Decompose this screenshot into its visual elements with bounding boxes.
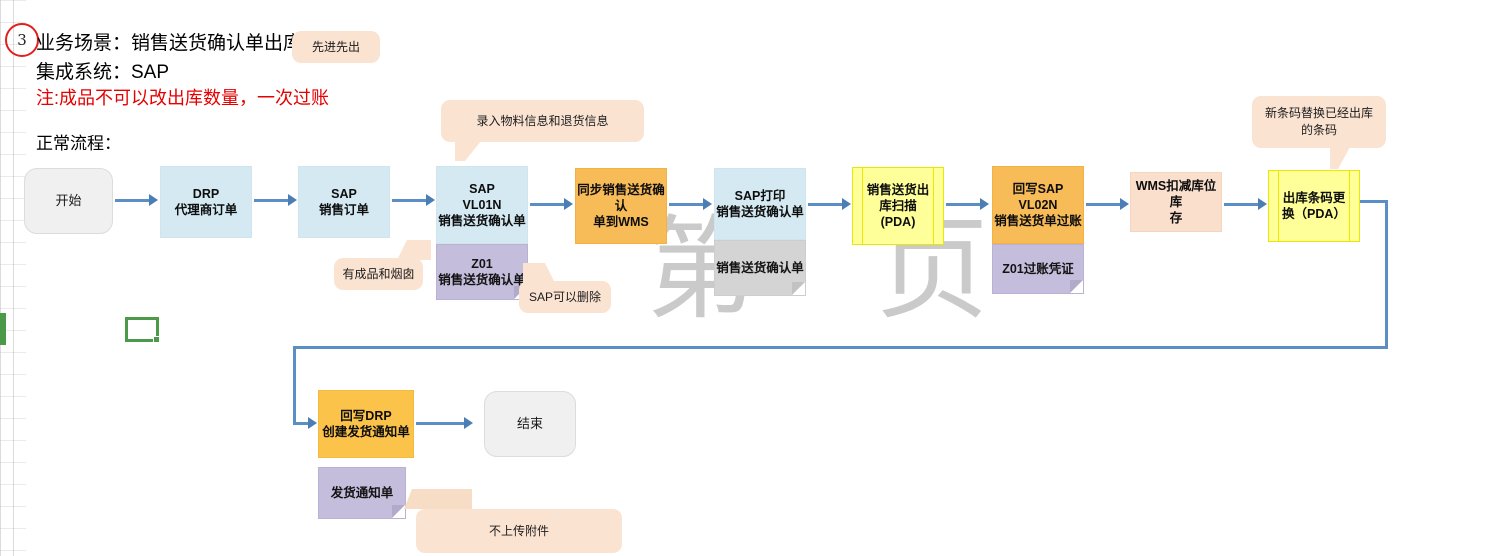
connector-sap-to-vl01n xyxy=(392,199,428,202)
node-sap-vl02n-line2: VL02N xyxy=(1019,197,1058,213)
callout-sap-delete: SAP可以删除 xyxy=(519,281,611,313)
callout-material-info-tail xyxy=(455,141,481,161)
connector-vl02n-to-wms xyxy=(1086,203,1122,206)
doc-delivery-notice[interactable]: 发货通知单 xyxy=(318,467,406,519)
node-sync-to-wms[interactable]: 同步销售送货确认 单到WMS xyxy=(575,168,667,244)
node-pda-outbound-scan[interactable]: 销售送货出 库扫描 (PDA) xyxy=(852,167,944,245)
arrow-start-to-drp xyxy=(149,194,158,206)
callout-no-attachment-tail xyxy=(404,489,472,509)
connector-drp-to-sap xyxy=(254,199,290,202)
row-selection-marker xyxy=(0,313,6,345)
node-pda-scan-line1: 销售送货出 xyxy=(867,182,930,198)
node-barcode-replace-line1: 出库条码更 xyxy=(1283,190,1346,206)
callout-new-barcode: 新条码替换已经出库的条码 xyxy=(1252,96,1386,148)
callout-fifo: 先进先出 xyxy=(292,31,380,63)
connector-sync-to-print xyxy=(669,203,705,206)
node-sap-vl02n[interactable]: 回写SAP VL02N 销售送货单过账 xyxy=(992,166,1084,244)
callout-no-attachment: 不上传附件 xyxy=(416,509,622,553)
arrow-sap-to-vl01n xyxy=(426,194,435,206)
cell-selection-box[interactable] xyxy=(125,317,159,342)
arrow-vl02n-to-wms xyxy=(1120,198,1129,210)
node-sap-vl01n-line3: 销售送货确认单 xyxy=(438,213,526,229)
return-path-horizontal-top xyxy=(1356,200,1388,203)
node-sap-vl02n-line1: 回写SAP xyxy=(1013,181,1064,197)
callout-material-info: 录入物料信息和退货信息 xyxy=(441,100,644,142)
connector-vl01n-to-sync xyxy=(530,203,566,206)
connector-drp-to-end xyxy=(416,422,466,425)
node-drp-order-line1: DRP xyxy=(193,186,219,202)
arrow-wms-to-barcode xyxy=(1258,198,1267,210)
node-end[interactable]: 结束 xyxy=(484,391,576,457)
connector-start-to-drp xyxy=(115,199,151,202)
doc-z01-posting-voucher[interactable]: Z01过账凭证 xyxy=(992,244,1084,294)
callout-finished-goods: 有成品和烟囱 xyxy=(334,258,423,290)
spreadsheet-gridlines xyxy=(0,0,26,556)
arrow-return-into-drp xyxy=(308,417,317,429)
node-sync-to-wms-line1: 同步销售送货确认 xyxy=(576,182,666,214)
node-drp-order-line2: 代理商订单 xyxy=(175,202,238,218)
node-sap-vl01n[interactable]: SAP VL01N 销售送货确认单 xyxy=(436,166,528,244)
node-drp-writeback[interactable]: 回写DRP 创建发货通知单 xyxy=(318,390,414,458)
node-pda-scan-line3: (PDA) xyxy=(881,214,916,230)
doc-z01-voucher-line1: Z01过账凭证 xyxy=(1002,261,1074,277)
scenario-title: 业务场景：销售送货确认单出库 xyxy=(36,28,302,55)
node-drp-writeback-line1: 回写DRP xyxy=(340,408,391,424)
doc-print-line1: 销售送货确认单 xyxy=(716,260,804,276)
doc-print-delivery-confirm[interactable]: 销售送货确认单 xyxy=(714,240,806,296)
callout-new-barcode-tail xyxy=(1330,147,1350,169)
normal-flow-label: 正常流程： xyxy=(36,129,121,154)
return-path-horizontal-bottom xyxy=(293,346,1388,349)
node-start-label: 开始 xyxy=(55,193,81,209)
node-drp-writeback-line2: 创建发货通知单 xyxy=(322,424,410,440)
node-wms-deduct-line1: WMS扣减库位库 xyxy=(1131,178,1221,210)
callout-sap-delete-tail xyxy=(523,263,555,283)
return-path-vertical-right xyxy=(1385,200,1388,348)
node-sap-vl01n-line1: SAP xyxy=(469,181,495,197)
arrow-drp-to-sap xyxy=(288,194,297,206)
node-wms-deduct-stock[interactable]: WMS扣减库位库 存 xyxy=(1130,172,1222,232)
node-sap-vl02n-line3: 销售送货单过账 xyxy=(994,213,1082,229)
connector-print-to-pda xyxy=(808,203,844,206)
doc-z01-line2: 销售送货确认单 xyxy=(438,272,526,288)
node-sap-print-line1: SAP打印 xyxy=(735,188,786,204)
doc-z01-delivery-confirm[interactable]: Z01 销售送货确认单 xyxy=(436,244,528,300)
node-barcode-replace-line2: 换（PDA） xyxy=(1282,206,1346,222)
doc-delivery-notice-line1: 发货通知单 xyxy=(331,485,394,501)
arrow-drp-to-end xyxy=(464,417,473,429)
arrow-vl01n-to-sync xyxy=(564,198,573,210)
node-sap-print-line2: 销售送货确认单 xyxy=(716,204,804,220)
callout-finished-goods-tail xyxy=(397,240,431,260)
arrow-sync-to-print xyxy=(703,198,712,210)
return-path-vertical-left xyxy=(293,346,296,423)
node-end-label: 结束 xyxy=(517,416,543,432)
node-sap-order-line2: 销售订单 xyxy=(319,202,369,218)
node-sap-order[interactable]: SAP 销售订单 xyxy=(298,166,390,238)
step-number-badge: 3 xyxy=(5,23,39,57)
node-pda-scan-line2: 库扫描 xyxy=(879,198,917,214)
connector-wms-to-barcode xyxy=(1224,203,1260,206)
arrow-print-to-pda xyxy=(842,198,851,210)
arrow-pda-to-vl02n xyxy=(980,198,989,210)
node-sap-vl01n-line2: VL01N xyxy=(463,197,502,213)
node-sap-order-line1: SAP xyxy=(331,186,357,202)
page-watermark: 第 页 xyxy=(645,214,1031,326)
connector-pda-to-vl02n xyxy=(946,203,982,206)
node-drp-order[interactable]: DRP 代理商订单 xyxy=(160,166,252,238)
doc-z01-line1: Z01 xyxy=(471,256,493,272)
node-sap-print[interactable]: SAP打印 销售送货确认单 xyxy=(714,168,806,240)
node-sync-to-wms-line2: 单到WMS xyxy=(593,214,649,230)
node-barcode-replace-pda[interactable]: 出库条码更 换（PDA） xyxy=(1268,170,1360,242)
node-wms-deduct-line2: 存 xyxy=(1170,210,1183,226)
node-start[interactable]: 开始 xyxy=(24,168,113,234)
warning-note: 注:成品不可以改出库数量，一次过账 xyxy=(36,84,329,110)
integration-system-label: 集成系统：SAP xyxy=(36,57,169,84)
